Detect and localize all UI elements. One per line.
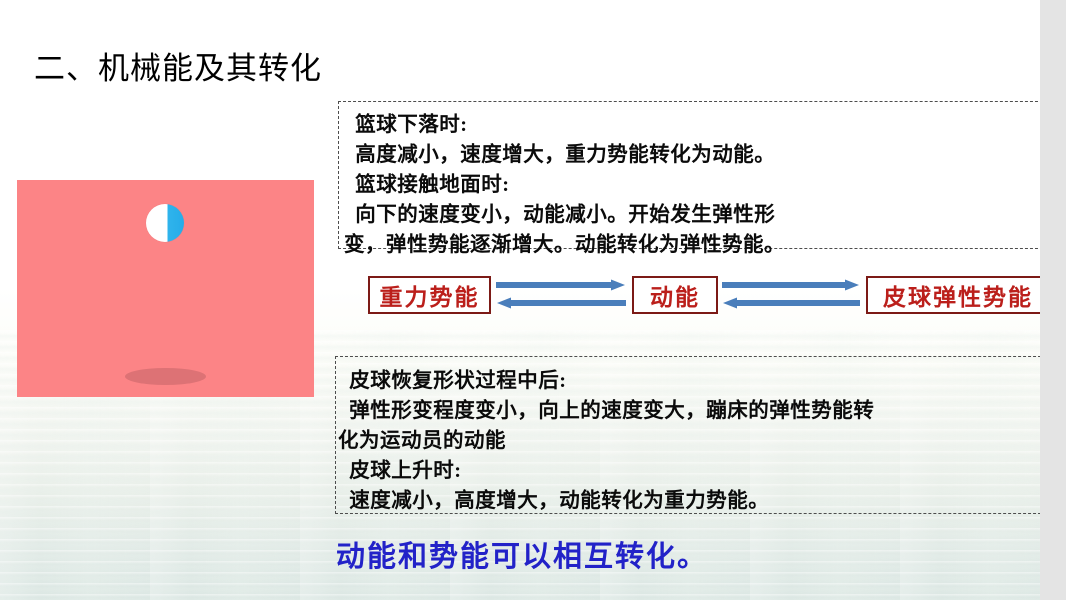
arrow-pair-left[interactable] (496, 277, 626, 313)
note-box-falling-phase: 篮球下落时: 高度减小，速度增大，重力势能转化为动能。 篮球接触地面时: 向下的… (338, 101, 1040, 249)
bouncing-ball-illustration[interactable] (17, 180, 314, 397)
conclusion-statement: 动能和势能可以相互转化。 (336, 533, 708, 575)
slide-right-gutter (1040, 0, 1066, 600)
arrow-pair-right[interactable] (722, 277, 860, 313)
page-title: 二、机械能及其转化 (34, 43, 322, 88)
note-box-falling-phase-text: 篮球下落时: 高度减小，速度增大，重力势能转化为动能。 篮球接触地面时: 向下的… (339, 102, 1040, 260)
presentation-viewer: 二、机械能及其转化 篮球下落时: 高度减小，速度增大，重力势能转化为动能。 篮球… (0, 0, 1066, 600)
ball-shadow-ellipse (125, 368, 206, 385)
bidirectional-arrow-icon (496, 277, 626, 313)
energy-box-gravitational-potential[interactable]: 重力势能 (368, 276, 491, 314)
energy-box-ball-elastic-potential[interactable]: 皮球弹性势能 (866, 276, 1040, 314)
bidirectional-arrow-icon (722, 277, 860, 313)
energy-box-kinetic[interactable]: 动能 (632, 276, 718, 314)
slide-canvas: 二、机械能及其转化 篮球下落时: 高度减小，速度增大，重力势能转化为动能。 篮球… (0, 0, 1040, 600)
basketball-icon (146, 204, 184, 242)
note-box-rebound-phase: 皮球恢复形状过程中后: 弹性形变程度变小，向上的速度变大，蹦床的弹性势能转 化为… (335, 356, 1040, 514)
note-box-rebound-phase-text: 皮球恢复形状过程中后: 弹性形变程度变小，向上的速度变大，蹦床的弹性势能转 化为… (336, 357, 1040, 516)
